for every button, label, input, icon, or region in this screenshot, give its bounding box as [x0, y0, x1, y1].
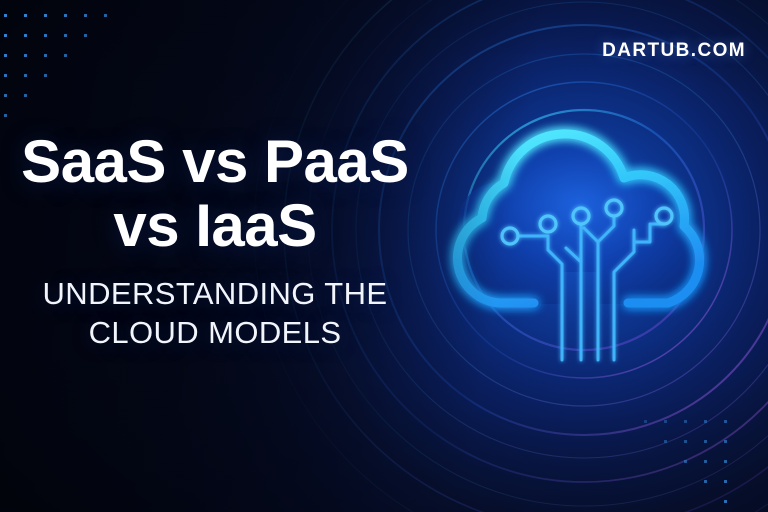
subhead-line-1: UNDERSTANDING THE — [0, 274, 430, 313]
hero-text-block: SaaS vs PaaS vs IaaS UNDERSTANDING THE C… — [0, 130, 430, 352]
brand-logo: DARTUB.COM — [602, 40, 746, 62]
page-title: SaaS vs PaaS vs IaaS — [0, 130, 430, 258]
headline-line-2: vs IaaS — [0, 194, 430, 258]
page-subtitle: UNDERSTANDING THE CLOUD MODELS — [0, 274, 430, 352]
headline-line-1: SaaS vs PaaS — [0, 130, 430, 194]
subhead-line-2: CLOUD MODELS — [0, 313, 430, 352]
cloud-circuit-icon — [438, 112, 728, 362]
dot-grid-bottom-right — [624, 420, 764, 512]
dot-grid-top-left — [4, 14, 124, 124]
hero-banner: DARTUB.COM SaaS vs PaaS vs IaaS UNDERSTA… — [0, 0, 768, 512]
